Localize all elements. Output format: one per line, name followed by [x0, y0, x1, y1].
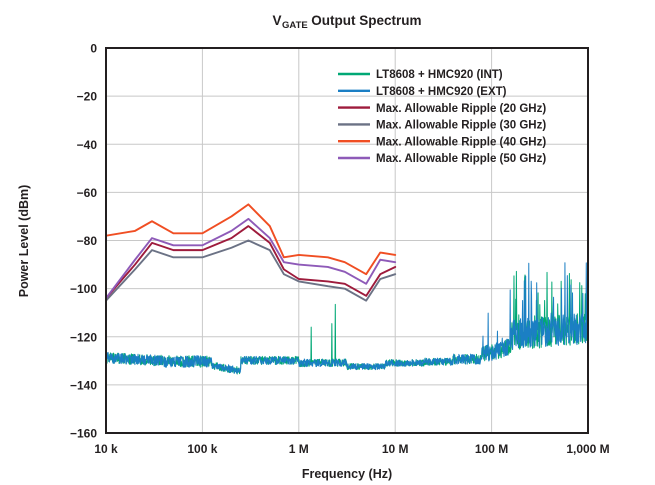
chart-figure: V GATE Output Spectrum Power Level (dBm)… [0, 0, 655, 485]
y-tick-label: 0 [90, 42, 97, 56]
y-tick-label: −140 [70, 378, 97, 392]
legend-label: LT8608 + HMC920 (EXT) [376, 86, 507, 98]
y-tick-label: −40 [77, 138, 98, 152]
y-axis-title: Power Level (dBm) [17, 185, 31, 298]
x-tick-label: 1,000 M [566, 442, 609, 456]
legend-label: Max. Allowable Ripple (20 GHz) [376, 103, 546, 115]
x-tick-label: 10 M [382, 442, 409, 456]
y-tick-label: −20 [77, 90, 98, 104]
title-subscript: GATE [282, 20, 308, 31]
y-tick-label: −100 [70, 282, 97, 296]
spectrum-chart: V GATE Output Spectrum Power Level (dBm)… [0, 0, 655, 485]
legend-label: Max. Allowable Ripple (30 GHz) [376, 120, 546, 132]
title-main: Output Spectrum [311, 13, 421, 28]
y-tick-label: −80 [77, 234, 98, 248]
legend-label: Max. Allowable Ripple (40 GHz) [376, 136, 546, 148]
y-tick-label: −60 [77, 186, 98, 200]
y-tick-label: −160 [70, 427, 97, 441]
y-tick-label: −120 [70, 330, 97, 344]
x-tick-label: 100 k [187, 442, 217, 456]
x-tick-label: 10 k [94, 442, 118, 456]
x-tick-label: 100 M [475, 442, 508, 456]
chart-background [0, 0, 655, 485]
x-axis-title: Frequency (Hz) [302, 467, 392, 481]
x-tick-label: 1 M [289, 442, 309, 456]
title-prefix: V [273, 13, 282, 28]
legend-label: LT8608 + HMC920 (INT) [376, 69, 503, 81]
legend-label: Max. Allowable Ripple (50 GHz) [376, 153, 546, 165]
